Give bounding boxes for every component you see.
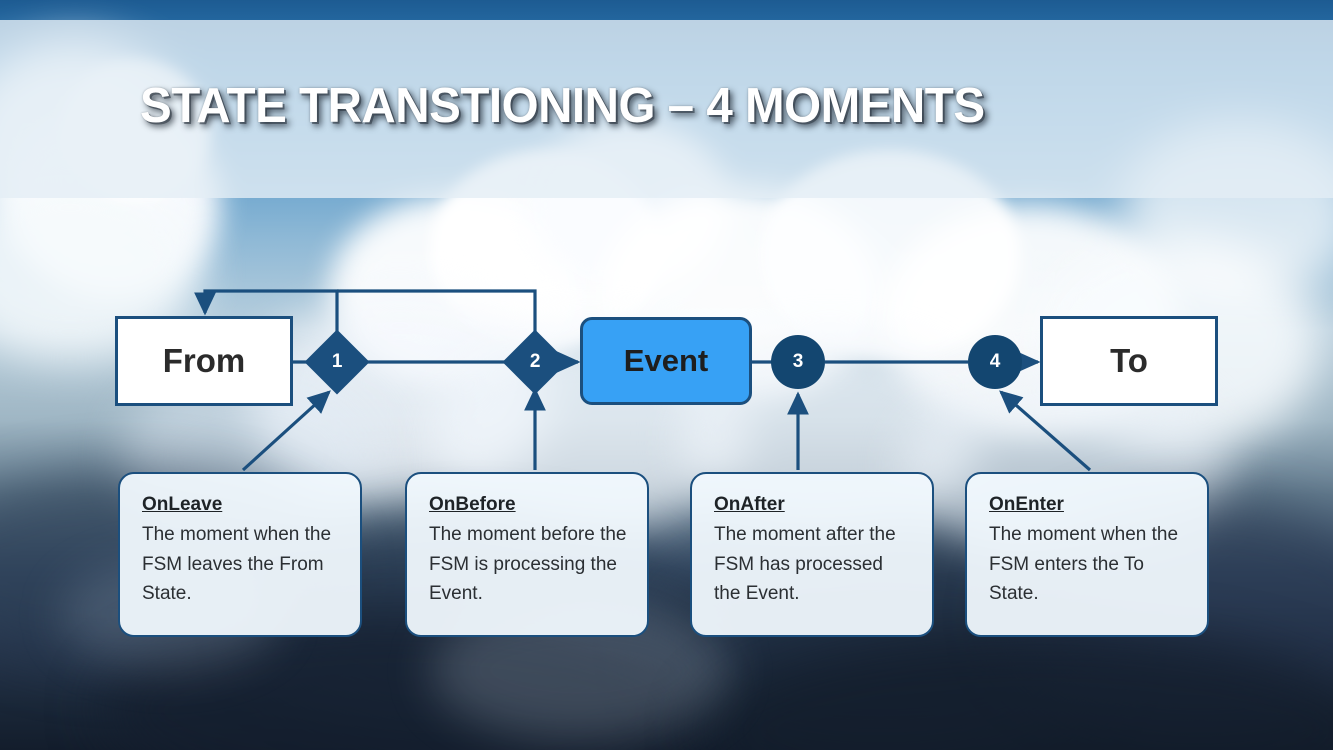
state-node-from[interactable]: From (115, 316, 293, 406)
callout-onenter-title: OnEnter (989, 490, 1064, 519)
moment-marker-2-label: 2 (530, 351, 541, 373)
moment-marker-4[interactable]: 4 (968, 335, 1022, 389)
callout-onleave[interactable]: OnLeave The moment when the FSM leaves t… (118, 472, 362, 637)
callout-onafter-body: The moment after the FSM has processed t… (714, 520, 914, 608)
callout-onafter-title: OnAfter (714, 490, 785, 519)
callout-onafter[interactable]: OnAfter The moment after the FSM has pro… (690, 472, 934, 637)
moment-marker-3-label: 3 (793, 351, 804, 373)
callout-onenter-body: The moment when the FSM enters the To St… (989, 520, 1189, 608)
state-node-to[interactable]: To (1040, 316, 1218, 406)
moment-marker-4-label: 4 (990, 351, 1001, 373)
callout-onleave-body: The moment when the FSM leaves the From … (142, 520, 342, 608)
callout-onbefore-title: OnBefore (429, 490, 516, 519)
state-node-event-label: Event (624, 343, 708, 379)
callout-onenter[interactable]: OnEnter The moment when the FSM enters t… (965, 472, 1209, 637)
slide-canvas: STATE TRANSTIONING – 4 MOMENTS (0, 0, 1333, 750)
callout-onbefore-body: The moment before the FSM is processing … (429, 520, 629, 608)
state-node-to-label: To (1110, 342, 1148, 380)
state-node-event[interactable]: Event (580, 317, 752, 405)
state-node-from-label: From (163, 342, 246, 380)
moment-marker-3[interactable]: 3 (771, 335, 825, 389)
callout-onleave-title: OnLeave (142, 490, 222, 519)
edge-m2-feedback-to-from (337, 291, 535, 340)
moment-marker-1-label: 1 (332, 351, 343, 373)
callout-onbefore[interactable]: OnBefore The moment before the FSM is pr… (405, 472, 649, 637)
